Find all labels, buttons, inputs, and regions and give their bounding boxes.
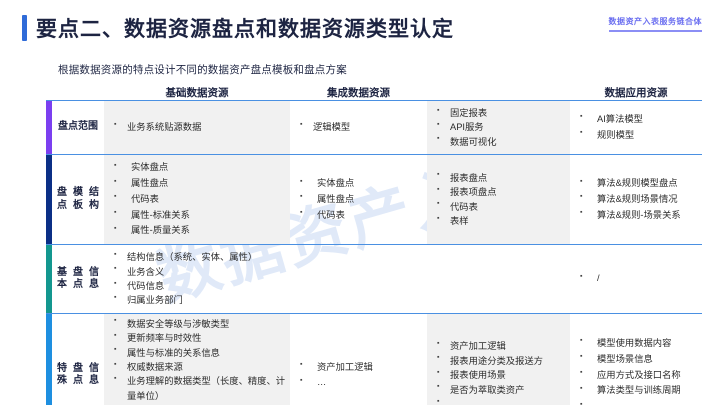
bullet-item: 报表用途分类及报送方: [437, 354, 568, 368]
bullet-list: 模型使用数据内容模型场景信息应用方式及接口名称算法类型与训练周期…: [580, 336, 700, 405]
table-cell: 业务系统贴源数据: [104, 101, 290, 154]
bullet-item: 固定报表: [437, 106, 568, 120]
bullet-list: 实体盘点属性盘点代码表属性-标准关系属性-质量关系: [114, 160, 288, 239]
bullet-list: /: [580, 271, 700, 287]
bullet-item: 报表使用场景: [437, 368, 568, 382]
subtitle-text: 根据数据资源的特点设计不同的数据资产盘点模板和盘点方案: [58, 62, 347, 77]
table-cell: 实体盘点属性盘点代码表属性-标准关系属性-质量关系: [104, 155, 290, 244]
table-cell: 结构信息（系统、实体、属性）业务含义代码信息归属业务部门: [104, 245, 290, 313]
bullet-item: 算法&规则-场景关系: [580, 208, 700, 224]
brand-underline: [609, 30, 703, 32]
bullet-item: 结构信息（系统、实体、属性）: [114, 250, 288, 264]
table-cell: AI算法模型规则模型: [570, 101, 702, 154]
bullet-item: 资产加工逻辑: [437, 339, 568, 353]
column-header-4: 数据应用资源: [570, 85, 702, 100]
bullet-item: 是否为萃取类资产: [437, 383, 568, 397]
bullet-item: 模型使用数据内容: [580, 336, 700, 352]
bullet-item: 更新频率与时效性: [114, 331, 288, 345]
bullet-item: 代码表: [437, 200, 568, 214]
bullet-list: 实体盘点属性盘点代码表: [300, 176, 425, 223]
table-cell: 资产加工逻辑报表用途分类及报送方报表使用场景是否为萃取类资产…: [427, 314, 570, 405]
table-row: 盘点模板结构 实体盘点属性盘点代码表属性-标准关系属性-质量关系 实体盘点属性盘…: [46, 154, 702, 244]
row-label: 盘点范围: [52, 101, 104, 154]
page-title: 要点二、数据资源盘点和数据资源类型认定: [22, 13, 454, 43]
bullet-item: 业务含义: [114, 265, 288, 279]
bullet-list: 资产加工逻辑…: [300, 360, 425, 392]
bullet-list: 算法&规则模型盘点算法&规则场景情况算法&规则-场景关系: [580, 176, 700, 223]
bullet-item: 逻辑模型: [300, 120, 425, 134]
bullet-item: 报表项盘点: [437, 185, 568, 199]
bullet-item: 业务系统贴源数据: [114, 120, 288, 134]
table-cell: 模型使用数据内容模型场景信息应用方式及接口名称算法类型与训练周期…: [570, 314, 702, 405]
bullet-list: 数据安全等级与涉敏类型更新频率与时效性属性与标准的关系信息权威数据来源业务理解的…: [114, 317, 288, 405]
bullet-item: 代码表: [114, 192, 288, 208]
slide-header: 要点二、数据资源盘点和数据资源类型认定 数据资产入表服务链合体: [0, 0, 720, 52]
bullet-item: 代码表: [300, 208, 425, 224]
table-cell: [290, 245, 427, 313]
table-cell: /: [570, 245, 702, 313]
table-cell: [427, 245, 570, 313]
bullet-item: 属性盘点: [114, 176, 288, 192]
bullet-item: 数据可视化: [437, 135, 568, 149]
title-text: 要点二、数据资源盘点和数据资源类型认定: [36, 13, 454, 43]
bullet-item: /: [580, 271, 700, 287]
bullet-item: …: [580, 399, 700, 405]
slide-root: 数据资产入表 要点二、数据资源盘点和数据资源类型认定 数据资产入表服务链合体 根…: [0, 0, 720, 405]
table-cell: 报表盘点报表项盘点代码表表样: [427, 155, 570, 244]
bullet-item: 属性-标准关系: [114, 208, 288, 224]
bullet-list: 业务系统贴源数据: [114, 120, 288, 134]
bullet-item: 归属业务部门: [114, 293, 288, 307]
bullet-item: API服务: [437, 120, 568, 134]
comparison-table: 基础数据资源 集成数据资源 数据应用资源 盘点范围 业务系统贴源数据 逻辑模型 …: [46, 84, 702, 405]
table-cell: 资产加工逻辑…: [290, 314, 427, 405]
bullet-item: 报表盘点: [437, 171, 568, 185]
bullet-item: 模型场景信息: [580, 352, 700, 368]
bullet-item: 属性与标准的关系信息: [114, 346, 288, 360]
bullet-list: 结构信息（系统、实体、属性）业务含义代码信息归属业务部门: [114, 250, 288, 308]
bullet-item: 业务理解的数据类型（长度、精度、计量单位）: [114, 374, 288, 403]
brand-badge: 数据资产入表服务链合体: [609, 16, 703, 32]
bullet-item: 算法&规则模型盘点: [580, 176, 700, 192]
bullet-item: 实体盘点: [300, 176, 425, 192]
table-cell: 逻辑模型: [290, 101, 427, 154]
column-header-1: 基础数据资源: [104, 85, 290, 100]
bullet-list: 资产加工逻辑报表用途分类及报送方报表使用场景是否为萃取类资产…: [437, 339, 568, 405]
bullet-item: AI算法模型: [580, 112, 700, 128]
table-cell: 固定报表API服务数据可视化: [427, 101, 570, 154]
bullet-item: 属性盘点: [300, 192, 425, 208]
row-label: 特殊盘点信息: [52, 314, 104, 405]
table-row: 特殊盘点信息 数据安全等级与涉敏类型更新频率与时效性属性与标准的关系信息权威数据…: [46, 313, 702, 405]
bullet-item: 权威数据来源: [114, 360, 288, 374]
table-cell: 实体盘点属性盘点代码表: [290, 155, 427, 244]
bullet-list: 逻辑模型: [300, 120, 425, 134]
bullet-item: 属性-质量关系: [114, 223, 288, 239]
bullet-item: 规则模型: [580, 128, 700, 144]
table-column-headers: 基础数据资源 集成数据资源 数据应用资源: [46, 84, 702, 100]
row-label: 基本盘点信息: [52, 245, 104, 313]
bullet-item: 应用方式及接口名称: [580, 368, 700, 384]
table-cell: 数据安全等级与涉敏类型更新频率与时效性属性与标准的关系信息权威数据来源业务理解的…: [104, 314, 290, 405]
bullet-list: 报表盘点报表项盘点代码表表样: [437, 171, 568, 229]
bullet-item: 算法类型与训练周期: [580, 383, 700, 399]
bullet-item: 资产加工逻辑: [300, 360, 425, 376]
bullet-item: …: [300, 375, 425, 391]
column-header-2: 集成数据资源: [290, 85, 427, 100]
bullet-item: …: [437, 397, 568, 405]
bullet-item: 数据安全等级与涉敏类型: [114, 317, 288, 331]
title-accent-bar: [22, 15, 27, 41]
table-row: 盘点范围 业务系统贴源数据 逻辑模型 固定报表API服务数据可视化 AI算法模型…: [46, 100, 702, 154]
bullet-item: 表样: [437, 214, 568, 228]
row-label: 盘点模板结构: [52, 155, 104, 244]
table-cell: 算法&规则模型盘点算法&规则场景情况算法&规则-场景关系: [570, 155, 702, 244]
bullet-item: 实体盘点: [114, 160, 288, 176]
table-row: 基本盘点信息 结构信息（系统、实体、属性）业务含义代码信息归属业务部门 /: [46, 244, 702, 313]
bullet-item: 算法&规则场景情况: [580, 192, 700, 208]
bullet-list: 固定报表API服务数据可视化: [437, 106, 568, 149]
brand-label: 数据资产入表服务链合体: [609, 16, 703, 27]
bullet-list: AI算法模型规则模型: [580, 112, 700, 144]
bullet-item: 代码信息: [114, 279, 288, 293]
